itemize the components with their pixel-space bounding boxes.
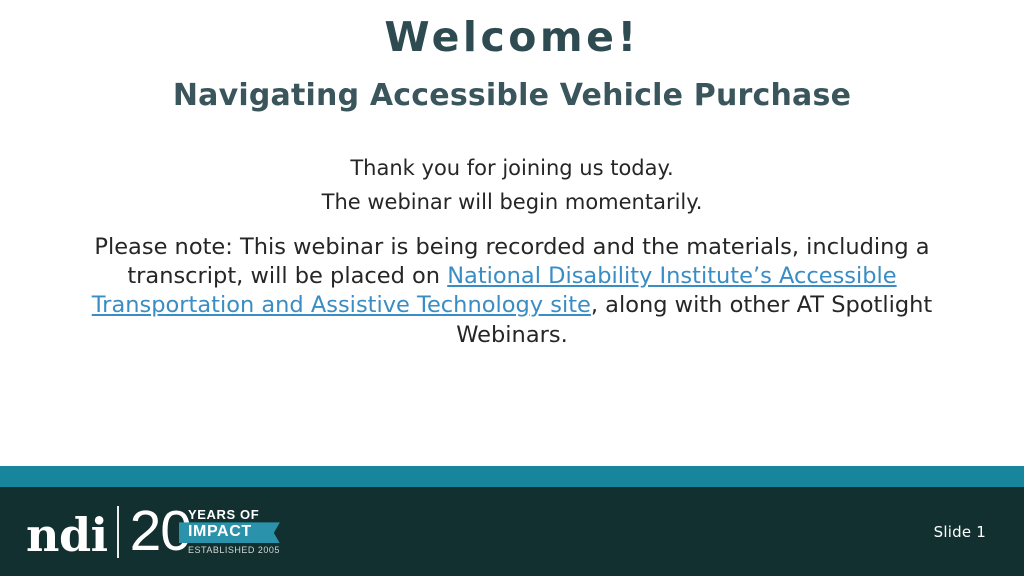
intro-line-2: The webinar will begin momentarily. [48, 185, 976, 219]
intro-line-1: Thank you for joining us today. [48, 151, 976, 185]
slide-footer: ndi 20 YEARS OF IMPACT ESTABLISHED 2005 … [0, 487, 1024, 576]
teal-accent-bar [0, 466, 1024, 487]
established-label: ESTABLISHED 2005 [179, 546, 280, 556]
ndi-wordmark: ndi [26, 512, 108, 558]
page-title: Welcome! [48, 0, 976, 63]
ndi-logo: ndi 20 YEARS OF IMPACT ESTABLISHED 2005 [26, 501, 280, 563]
intro-text-block: Thank you for joining us today. The webi… [48, 115, 976, 219]
recording-notice: Please note: This webinar is being recor… [52, 233, 972, 350]
slide-number: Slide 1 [934, 523, 986, 541]
years-of-label: YEARS OF [179, 508, 280, 522]
logo-divider [117, 506, 119, 558]
slide-content: Welcome! Navigating Accessible Vehicle P… [0, 0, 1024, 466]
slide-subtitle: Navigating Accessible Vehicle Purchase [48, 63, 976, 115]
anniversary-mark: 20 YEARS OF IMPACT ESTABLISHED 2005 [130, 502, 280, 562]
impact-ribbon: IMPACT [179, 522, 280, 543]
impact-label: IMPACT [188, 523, 252, 540]
impact-lockup: YEARS OF IMPACT ESTABLISHED 2005 [179, 503, 280, 561]
slide: Welcome! Navigating Accessible Vehicle P… [0, 0, 1024, 576]
